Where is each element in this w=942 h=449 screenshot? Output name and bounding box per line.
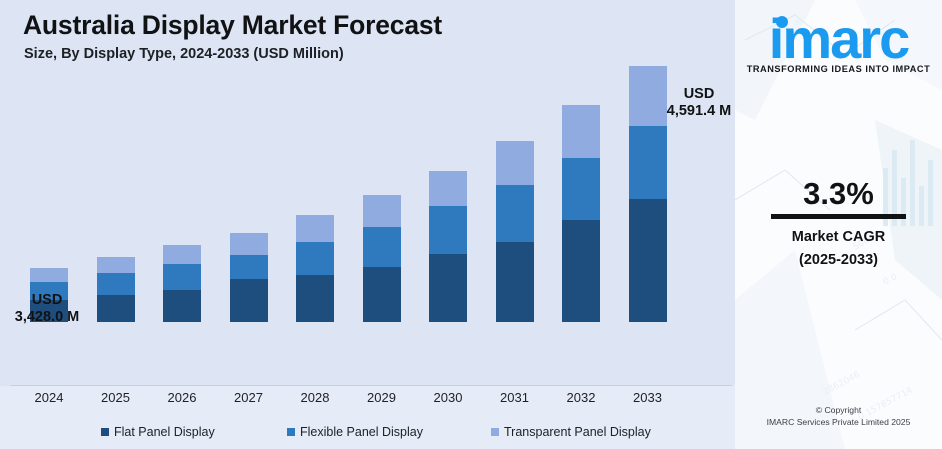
x-axis-label: 2024 <box>19 390 79 405</box>
stacked-bar[interactable] <box>363 195 401 322</box>
legend-item[interactable]: Flat Panel Display <box>101 425 215 439</box>
bar-segment-mid <box>429 206 467 254</box>
x-axis-label: 2031 <box>485 390 545 405</box>
bar-segment-dark <box>230 279 268 322</box>
bar-segment-dark <box>296 275 334 322</box>
cagr-value: 3.3% <box>735 176 942 212</box>
bar-segment-dark <box>163 290 201 322</box>
stacked-bar[interactable] <box>496 141 534 322</box>
bar-segment-dark <box>629 199 667 322</box>
callout-start-prefix: USD <box>0 292 102 309</box>
bar-segment-mid <box>97 273 135 295</box>
stacked-bar[interactable] <box>429 171 467 322</box>
bar-segment-light <box>230 233 268 255</box>
axis-baseline <box>10 385 732 386</box>
bar-segment-mid <box>230 255 268 279</box>
x-axis-label: 2030 <box>418 390 478 405</box>
stacked-bar[interactable] <box>296 215 334 322</box>
legend-item[interactable]: Flexible Panel Display <box>287 425 423 439</box>
logo-dot-icon <box>776 16 788 28</box>
legend-swatch-icon <box>491 428 499 436</box>
stacked-bar[interactable] <box>562 105 600 322</box>
legend-label: Transparent Panel Display <box>504 425 651 439</box>
legend-swatch-icon <box>101 428 109 436</box>
bar-segment-mid <box>296 242 334 275</box>
legend-item[interactable]: Transparent Panel Display <box>491 425 651 439</box>
chart-legend: Flat Panel DisplayFlexible Panel Display… <box>0 420 735 444</box>
x-axis-label: 2028 <box>285 390 345 405</box>
callout-start-value: USD 3,428.0 M <box>0 292 102 326</box>
x-axis-label: 2025 <box>86 390 146 405</box>
bar-segment-mid <box>363 227 401 267</box>
logo-text: imarc <box>769 7 908 70</box>
cagr-label-line2: (2025-2033) <box>735 249 942 272</box>
stacked-bar[interactable] <box>230 233 268 322</box>
bar-segment-dark <box>496 242 534 322</box>
cagr-label-line1: Market CAGR <box>735 226 942 249</box>
chart-panel: Australia Display Market Forecast Size, … <box>0 0 735 449</box>
bar-segment-light <box>97 257 135 273</box>
bar-segment-light <box>562 105 600 158</box>
x-axis-label: 2029 <box>352 390 412 405</box>
copyright-line2: IMARC Services Private Limited 2025 <box>735 416 942 428</box>
logo-wordmark: imarc <box>769 8 908 70</box>
x-axis-label: 2033 <box>618 390 678 405</box>
stacked-bar[interactable] <box>97 257 135 322</box>
chart-page: Australia Display Market Forecast Size, … <box>0 0 942 449</box>
legend-swatch-icon <box>287 428 295 436</box>
bar-segment-light <box>30 268 68 282</box>
cagr-divider <box>771 214 906 219</box>
bar-segment-light <box>429 171 467 206</box>
bar-segment-light <box>363 195 401 227</box>
bar-segment-dark <box>562 220 600 322</box>
stacked-bar[interactable] <box>163 245 201 322</box>
callout-start-amount: 3,428.0 M <box>0 309 102 326</box>
copyright-line1: © Copyright <box>735 404 942 416</box>
bar-segment-mid <box>496 185 534 242</box>
bar-segment-mid <box>629 126 667 199</box>
bar-segment-mid <box>163 264 201 290</box>
legend-label: Flat Panel Display <box>114 425 215 439</box>
bar-segment-dark <box>97 295 135 322</box>
plot-area: 2024202520262027202820292030203120322033 <box>0 0 735 386</box>
x-axis-label: 2032 <box>551 390 611 405</box>
x-axis-label: 2027 <box>219 390 279 405</box>
x-axis-label: 2026 <box>152 390 212 405</box>
bar-segment-light <box>163 245 201 264</box>
bar-segment-light <box>296 215 334 242</box>
legend-label: Flexible Panel Display <box>300 425 423 439</box>
brand-logo: imarc TRANSFORMING IDEAS INTO IMPACT <box>735 8 942 74</box>
bar-segment-dark <box>429 254 467 322</box>
brand-panel: 5000.0 0.0 2862046 0.157857714 imarc TRA… <box>735 0 942 449</box>
cagr-label: Market CAGR (2025-2033) <box>735 226 942 272</box>
bar-segment-light <box>496 141 534 185</box>
copyright-notice: © Copyright IMARC Services Private Limit… <box>735 404 942 428</box>
bar-segment-mid <box>562 158 600 220</box>
bar-segment-dark <box>363 267 401 322</box>
